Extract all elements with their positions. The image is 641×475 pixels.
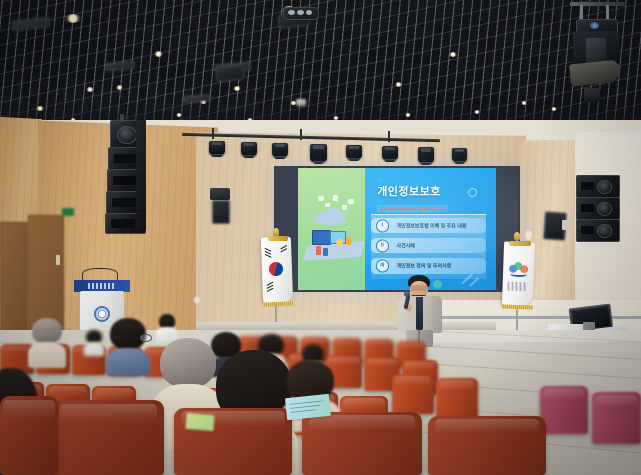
flag-cloth [502, 241, 535, 306]
projector-cable [584, 88, 600, 102]
audience-member [28, 318, 66, 366]
slide-item-numeral: III [376, 260, 389, 273]
downlight [449, 52, 457, 57]
presenter-jacket-opening [416, 297, 423, 331]
podium-nameplate [88, 283, 114, 289]
flag-finial [273, 228, 279, 236]
flag-fringe [502, 304, 533, 309]
exit-sign [62, 208, 74, 216]
stage-light [209, 141, 225, 155]
speaker-rigging [120, 114, 124, 122]
truss-drop-rod [212, 128, 214, 139]
truss-drop-rod [300, 129, 302, 140]
seat [428, 416, 546, 475]
slide-agenda-card: I 개인정보보호법 이해 및 주요 내용 II 사건사례 III 개인정보 정의… [371, 214, 486, 278]
microphone-head [404, 291, 410, 297]
speaker-module [576, 175, 620, 198]
downlight [521, 101, 527, 105]
downlight [65, 14, 81, 23]
seat [392, 374, 434, 414]
ceiling-speaker [215, 65, 244, 82]
downlight [233, 86, 241, 91]
downlight [405, 113, 411, 117]
seat [436, 378, 478, 420]
slide-item-numeral: II [376, 239, 389, 252]
downlight [395, 82, 402, 87]
stage-edge [196, 322, 496, 330]
flag-top-band [509, 241, 531, 246]
flag-top-band [268, 236, 288, 241]
truss-drop-rod [388, 131, 390, 142]
projector-indicator-light [590, 22, 599, 29]
stage-light [452, 148, 467, 162]
speaker-module [576, 197, 620, 220]
taeguk-circle [266, 259, 285, 278]
printed-handout [185, 413, 214, 431]
projector-shade [569, 59, 621, 86]
slide-item-text: 사건사례 [397, 242, 415, 249]
floor-highlight [430, 330, 641, 342]
wall-speaker-bracket-left [210, 188, 230, 200]
slide-subtitle: 공공기관의 개인정보 및 개인정보보호 교육 [377, 205, 447, 212]
speaker-side-panel [136, 120, 146, 230]
downlight [116, 85, 123, 90]
stage-light [272, 143, 288, 157]
cloud-computing-isometric-illustration [302, 195, 373, 271]
stage-light [241, 142, 257, 156]
stage-light [310, 144, 327, 162]
flag-cloth [261, 236, 293, 303]
stage-light [346, 145, 362, 159]
downlight [176, 113, 182, 117]
printed-handout [285, 394, 331, 420]
presenter-glasses [411, 285, 427, 291]
door-left [28, 215, 64, 335]
seat [0, 396, 58, 475]
wall-outlet [555, 232, 559, 237]
downlight [86, 87, 94, 92]
line-array-speaker-left [104, 120, 150, 232]
audience-member [106, 318, 150, 374]
projection-screen: 개인정보보호 공공기관의 개인정보 및 개인정보보호 교육 I 개인정보보호법 … [274, 166, 520, 292]
slide-item-text: 개인정보 정의 및 주의사항 [397, 263, 452, 270]
slide-agenda-item: III 개인정보 정의 및 주의사항 [371, 258, 486, 273]
slide-title: 개인정보보호 [377, 183, 441, 199]
flag-finial [514, 232, 520, 240]
seat [592, 392, 641, 444]
door-handle [56, 255, 60, 265]
presentation-slide: 개인정보보호 공공기관의 개인정보 및 개인정보보호 교육 I 개인정보보호법 … [298, 168, 496, 290]
stage-light [418, 147, 434, 163]
wall-speaker-small-left [212, 200, 230, 224]
auditorium-photo: 개인정보보호 공공기관의 개인정보 및 개인정보보호 교육 I 개인정보보호법 … [0, 0, 641, 475]
ceiling-light-cluster [283, 7, 317, 23]
ceiling-mounted-projector [566, 2, 630, 106]
speaker-module [576, 219, 620, 242]
stage-lighting-truss [182, 136, 440, 140]
seat [52, 400, 164, 475]
flag-fringe [263, 301, 293, 306]
seat [540, 386, 588, 434]
slide-item-text: 개인정보보호법 이해 및 주요 내용 [397, 222, 467, 229]
wall-speaker-dot [193, 296, 201, 304]
projector-mount-rail [570, 2, 626, 6]
slide-decor-circle [468, 188, 477, 197]
presenter-speaking [392, 275, 448, 347]
ceiling-camera [296, 99, 306, 106]
organization-name-text [507, 282, 527, 292]
slide-agenda-item: I 개인정보보호법 이해 및 주요 내용 [371, 218, 486, 233]
downlight [551, 107, 557, 111]
monitor-wall-bracket [562, 220, 571, 230]
organization-emblem [509, 262, 528, 277]
slide-item-numeral: I [376, 219, 389, 232]
stage-light [382, 146, 398, 160]
downlight [36, 106, 44, 111]
slide-agenda-item: II 사건사례 [371, 238, 486, 253]
door-far-left [0, 222, 28, 336]
seat [302, 412, 422, 475]
flag-organization [496, 232, 546, 344]
line-array-speaker-right [576, 175, 620, 241]
audience-member [84, 330, 104, 356]
downlight [474, 110, 480, 114]
downlight [154, 51, 163, 57]
